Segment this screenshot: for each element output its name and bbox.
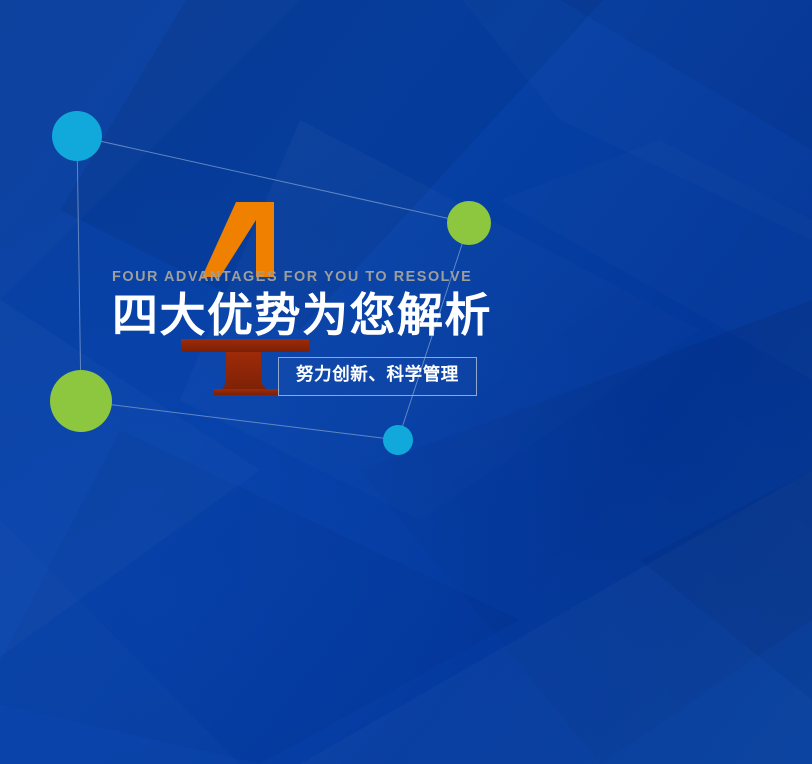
link-cyan-top-to-green-bottom bbox=[77, 136, 81, 401]
eyebrow-text: FOUR ADVANTAGES FOR YOU TO RESOLVE bbox=[112, 270, 752, 284]
promo-banner: FOUR ADVANTAGES FOR YOU TO RESOLVE 四大优势为… bbox=[0, 0, 812, 764]
headline-block: FOUR ADVANTAGES FOR YOU TO RESOLVE 四大优势为… bbox=[112, 204, 752, 396]
node-green-bottom-left bbox=[50, 370, 112, 432]
numeral-four-shape bbox=[202, 202, 274, 277]
page-title: 四大优势为您解析 bbox=[112, 291, 752, 341]
tagline-row: 努力创新、科学管理 bbox=[112, 357, 752, 396]
node-cyan-bottom bbox=[383, 425, 413, 455]
tagline-badge: 努力创新、科学管理 bbox=[278, 357, 477, 396]
link-green-bottom-to-cyan-bottom bbox=[81, 401, 398, 440]
node-cyan-top-left bbox=[52, 111, 102, 161]
